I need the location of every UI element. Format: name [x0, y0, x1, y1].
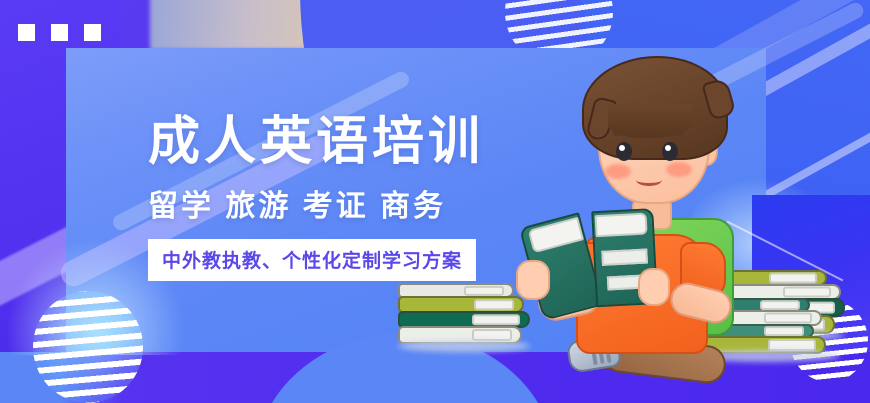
book-stack-left: [398, 285, 530, 344]
hand: [638, 268, 670, 306]
cheek-blush: [605, 164, 631, 179]
eye: [662, 142, 678, 161]
banner-subtitle: 留学 旅游 考证 商务: [148, 181, 538, 225]
book-page: [595, 213, 648, 238]
white-square-dot: [51, 24, 68, 41]
book-page-label: [601, 248, 648, 265]
book-stack-shadow: [398, 340, 530, 352]
banner-root: 成人英语培训 留学 旅游 考证 商务 中外教执教、个性化定制学习方案: [0, 0, 870, 403]
white-square-dot: [18, 24, 35, 41]
tagline-box: 中外教执教、个性化定制学习方案: [148, 239, 476, 281]
banner-title: 成人英语培训: [148, 112, 538, 173]
white-dots-decoration: [18, 24, 101, 41]
sphere-stripes: [33, 291, 143, 403]
text-block: 成人英语培训 留学 旅游 考证 商务 中外教执教、个性化定制学习方案: [148, 112, 538, 281]
smiling-mouth: [636, 174, 662, 186]
white-square-dot: [84, 24, 101, 41]
tagline-text: 中外教执教、个性化定制学习方案: [162, 251, 462, 272]
eye: [616, 142, 632, 161]
cheek-blush: [666, 162, 692, 177]
striped-sphere-icon: [33, 291, 143, 403]
boy-reading-illustration: [520, 46, 750, 376]
